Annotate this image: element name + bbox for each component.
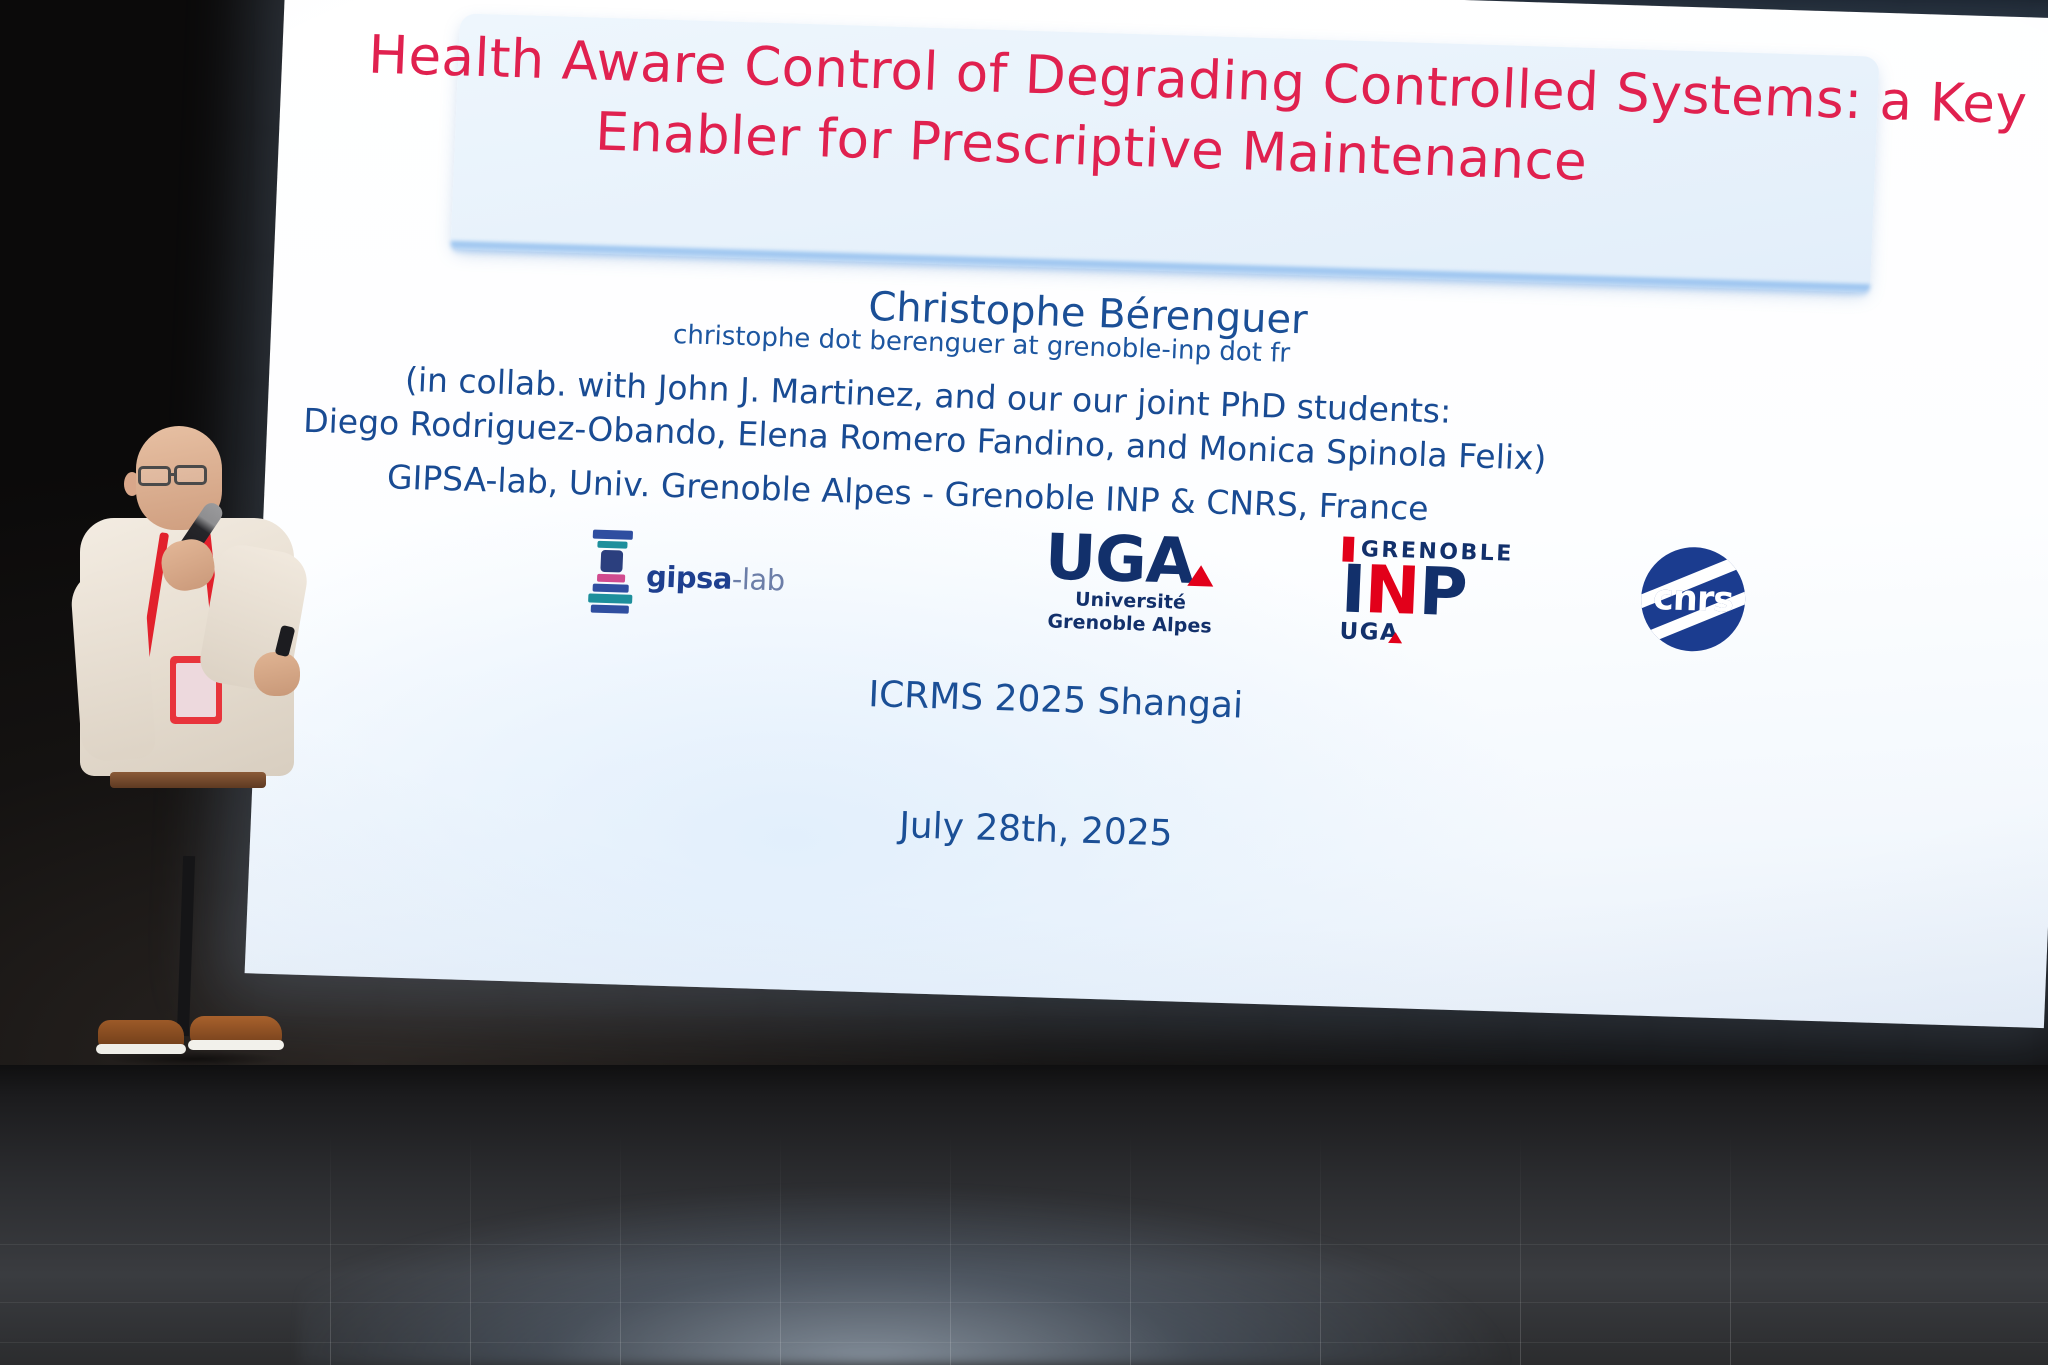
inp-uga-text: UGA (1339, 618, 1400, 646)
gipsa-lab-wordmark: gipsa-lab (646, 559, 786, 597)
speaker-glasses-bridge (170, 473, 177, 476)
cnrs-circle-icon: cnrs (1639, 546, 1747, 653)
inp-letter-i: I (1340, 551, 1367, 629)
projection-screen: Health Aware Control of Degrading Contro… (245, 0, 2048, 1028)
stage-floor (0, 1065, 2048, 1365)
cnrs-logo: cnrs (1638, 546, 1773, 672)
speaker-hand-right (254, 652, 300, 696)
universite-grenoble-alpes-logo: UGA Université Grenoble Alpes (979, 526, 1284, 657)
uga-triangle-icon (1188, 565, 1215, 587)
uga-acronym: UGA (1044, 527, 1221, 593)
floor-light-reflection (300, 1135, 1800, 1365)
lab-text: -lab (731, 562, 785, 598)
inp-letter-n: N (1363, 551, 1420, 630)
date-line: July 28th, 2025 (898, 805, 1173, 854)
grenoble-inp-logo: GRENOBLE INP UGA (1338, 537, 1643, 668)
speaker-sole-right (188, 1040, 284, 1050)
speaker-figure (58, 420, 318, 1060)
uga-acronym-tail: A (1144, 524, 1221, 599)
venue-line: ICRMS 2025 Shangai (868, 674, 1244, 726)
speaker-arm-left (69, 568, 156, 763)
cnrs-wordmark: cnrs (1652, 578, 1733, 620)
gipsa-lab-logo: gipsa-lab (583, 513, 838, 643)
presentation-slide: Health Aware Control of Degrading Contro… (245, 0, 2048, 1028)
gipsa-text: gipsa (646, 559, 733, 596)
inp-letter-p: P (1417, 553, 1468, 631)
gipsa-mark-icon (583, 527, 639, 623)
speaker-belt (110, 772, 266, 788)
speaker-glasses-right-lens (174, 465, 207, 485)
logo-strip: gipsa-lab UGA Université Grenoble Alpes … (549, 512, 1754, 671)
speaker-sole-left (96, 1044, 186, 1054)
inp-triangle-icon (1388, 632, 1402, 643)
speaker-glasses-left-lens (138, 466, 171, 486)
auditorium-scene: Health Aware Control of Degrading Contro… (0, 0, 2048, 1365)
uga-acronym-text: UG (1044, 520, 1148, 596)
